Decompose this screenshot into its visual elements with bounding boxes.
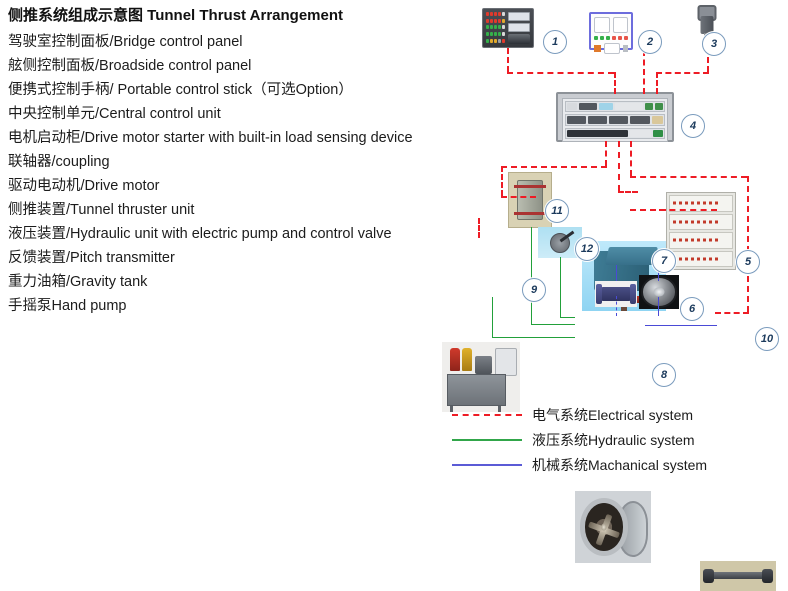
hydraulic-filter-red — [450, 348, 460, 372]
legend-row-electrical: 电气系统Electrical system — [452, 402, 707, 427]
tunnel-thruster-unit[interactable] — [575, 491, 651, 563]
component-label-9: 液压装置/Hydraulic unit with electric pump a… — [8, 222, 458, 246]
ccu-row-relays — [565, 114, 665, 125]
broadside-panel-screens — [594, 17, 628, 33]
drive-motor-starter-cabinet[interactable] — [666, 192, 736, 270]
electrical-line-gravity-tank-in — [501, 196, 536, 198]
electrical-line-n2-to-ccu — [643, 50, 645, 94]
broadside-keypad[interactable] — [604, 43, 620, 54]
drive-motor-terminal-box — [605, 247, 658, 265]
component-label-2: 舷侧控制面板/Broadside control panel — [8, 54, 458, 78]
legend-label-mechanical: 机械系统Machanical system — [532, 455, 707, 475]
legend-row-mechanical: 机械系统Machanical system — [452, 452, 707, 477]
hydraulic-line-hydraulic-unit-to-thruster — [492, 337, 575, 338]
electrical-line-n3-across — [656, 72, 709, 74]
cabinet-row-4 — [669, 251, 733, 268]
component-label-8: 侧推装置/Tunnel thruster unit — [8, 198, 458, 222]
component-label-12: 手摇泵Hand pump — [8, 294, 458, 318]
electrical-line-ccu-left-stub — [605, 141, 607, 166]
page-title: 侧推系统组成示意图 Tunnel Thrust Arrangement — [8, 6, 458, 25]
component-label-3: 便携式控制手柄/ Portable control stick（可选Option… — [8, 78, 458, 102]
bridge-panel-display-upper — [508, 12, 530, 21]
mechanical-line-motor-to-coupling — [616, 265, 617, 281]
ccu-row-terminals — [565, 128, 665, 139]
cabinet-row-2 — [669, 214, 733, 231]
component-label-6: 联轴器/coupling — [8, 150, 458, 174]
broadside-screen-right — [613, 17, 629, 33]
electrical-line-hydraulic-unit-feed — [478, 218, 480, 238]
gravity-tank-vessel — [517, 180, 542, 220]
electrical-line-n3-to-ccu — [656, 72, 658, 94]
bridge-panel-display-stack — [508, 12, 530, 44]
hydraulic-valve-block — [475, 356, 492, 374]
electrical-line-to-gravity-tank — [501, 166, 503, 196]
legend-label-hydraulic: 液压系统Hydraulic system — [532, 430, 695, 450]
central-control-unit[interactable] — [556, 92, 674, 142]
thruster-tunnel-ring — [580, 498, 629, 556]
legend: 电气系统Electrical system 液压系统Hydraulic syst… — [452, 402, 707, 477]
badge-9: 9 — [522, 278, 546, 302]
ccu-interior — [562, 98, 668, 142]
bridge-panel-button-grid[interactable] — [486, 12, 505, 44]
mechanical-line-pitch-tx-to-thruster — [658, 297, 659, 316]
electrical-line-ccu-mid — [618, 141, 620, 191]
bridge-control-panel[interactable] — [482, 8, 534, 48]
component-label-4: 中央控制单元/Central control unit — [8, 102, 458, 126]
bridge-panel-display-lower — [508, 23, 530, 32]
broadside-control-panel[interactable] — [589, 12, 633, 50]
hydraulic-line-hydraulic-unit-down — [492, 297, 493, 337]
legend-swatch-electrical — [452, 414, 522, 416]
hydraulic-control-box — [495, 348, 517, 377]
electrical-line-drive-motor-to-cabinet — [659, 209, 717, 211]
electrical-line-cabinet-right-drop — [747, 176, 749, 312]
electrical-line-n1-across — [507, 72, 614, 74]
bridge-panel-lever[interactable] — [508, 34, 530, 44]
badge-2: 2 — [638, 30, 662, 54]
badge-5: 5 — [736, 250, 760, 274]
badge-8: 8 — [652, 363, 676, 387]
hydraulic-filter-yellow — [462, 348, 472, 372]
badge-4: 4 — [681, 114, 705, 138]
component-label-7: 驱动电动机/Drive motor — [8, 174, 458, 198]
pitch-transmitter-disc — [641, 276, 677, 307]
hydraulic-line-gravity-tank-down — [531, 227, 532, 324]
component-label-5: 电机启动柜/Drive motor starter with built-in … — [8, 126, 458, 150]
broadside-led-row — [594, 36, 628, 40]
mechanical-line-thruster-to-pitch-rod — [645, 325, 717, 326]
pitch-rod-end-right — [762, 569, 773, 583]
electrical-line-to-pitch-rod — [715, 312, 749, 314]
gravity-tank[interactable] — [508, 172, 552, 228]
hydraulic-line-gravity-tank-to-thruster — [531, 324, 575, 325]
badge-1: 1 — [543, 30, 567, 54]
electrical-line-ccu-right-stub — [630, 141, 632, 176]
badge-12: 12 — [575, 237, 599, 261]
component-label-10: 反馈装置/Pitch transmitter — [8, 246, 458, 270]
badge-11: 11 — [545, 199, 569, 223]
ccu-row-plc — [565, 101, 665, 112]
component-label-1: 驾驶室控制面板/Bridge control panel — [8, 30, 458, 54]
pitch-transmitter[interactable] — [639, 275, 679, 309]
pitch-feedback-rod[interactable] — [700, 561, 776, 591]
badge-10: 10 — [755, 327, 779, 351]
legend-swatch-hydraulic — [452, 439, 522, 441]
mechanical-line-coupling-to-thruster — [616, 296, 617, 316]
electrical-line-n1-to-ccu — [614, 72, 616, 94]
broadside-bottom-row[interactable] — [594, 43, 628, 54]
legend-label-electrical: 电气系统Electrical system — [532, 405, 693, 425]
badge-7: 7 — [652, 249, 676, 273]
hydraulic-line-hand-pump-to-thruster — [560, 317, 575, 318]
badge-6: 6 — [680, 297, 704, 321]
component-label-11: 重力油箱/Gravity tank — [8, 270, 458, 294]
pitch-rod-end-left — [703, 569, 714, 583]
broadside-screen-left — [594, 17, 610, 33]
electrical-line-ccu-to-cabinet-run — [630, 176, 747, 178]
description-panel: 侧推系统组成示意图 Tunnel Thrust Arrangement 驾驶室控… — [8, 6, 458, 318]
legend-row-hydraulic: 液压系统Hydraulic system — [452, 427, 707, 452]
badge-3: 3 — [702, 32, 726, 56]
electrical-line-ccu-mid-jog — [618, 191, 638, 193]
hydraulic-line-hand-pump-down — [560, 257, 561, 317]
cabinet-row-3 — [669, 232, 733, 249]
legend-swatch-mechanical — [452, 464, 522, 466]
system-diagram: 1 2 3 — [430, 0, 788, 400]
electrical-line-ccu-left-run — [501, 166, 607, 168]
electrical-line-n1-down — [507, 48, 509, 72]
